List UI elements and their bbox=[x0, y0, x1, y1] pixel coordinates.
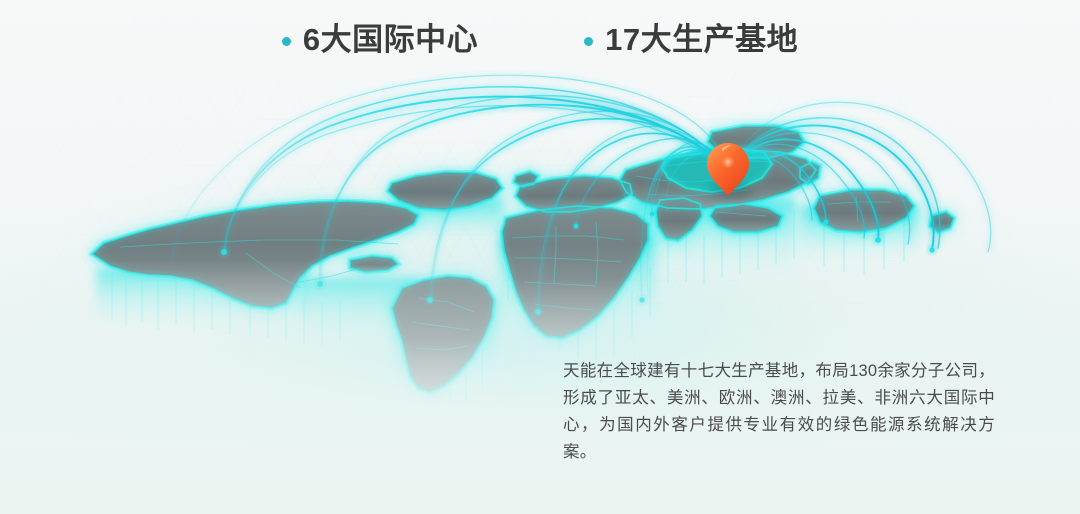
headline-row: 6大国际中心 17大生产基地 bbox=[0, 22, 1080, 58]
headline-label-hubs: 6大国际中心 bbox=[303, 22, 478, 58]
description-block: 天能在全球建有十七大生产基地，布局130余家分子公司，形成了亚太、美洲、欧洲、澳… bbox=[563, 341, 995, 482]
description-paragraph: 天能在全球建有十七大生产基地，布局130余家分子公司，形成了亚太、美洲、欧洲、澳… bbox=[563, 358, 995, 466]
bullet-dot-icon bbox=[282, 37, 291, 46]
headline-item-hubs: 6大国际中心 bbox=[282, 22, 478, 58]
headline-label-bases: 17大生产基地 bbox=[605, 22, 798, 58]
bullet-dot-icon bbox=[584, 37, 593, 46]
infographic-canvas: 6大国际中心 17大生产基地 天能在全球建有十七大生产基地，布局130余家分子公… bbox=[0, 0, 1080, 514]
headline-item-bases: 17大生产基地 bbox=[584, 22, 798, 58]
